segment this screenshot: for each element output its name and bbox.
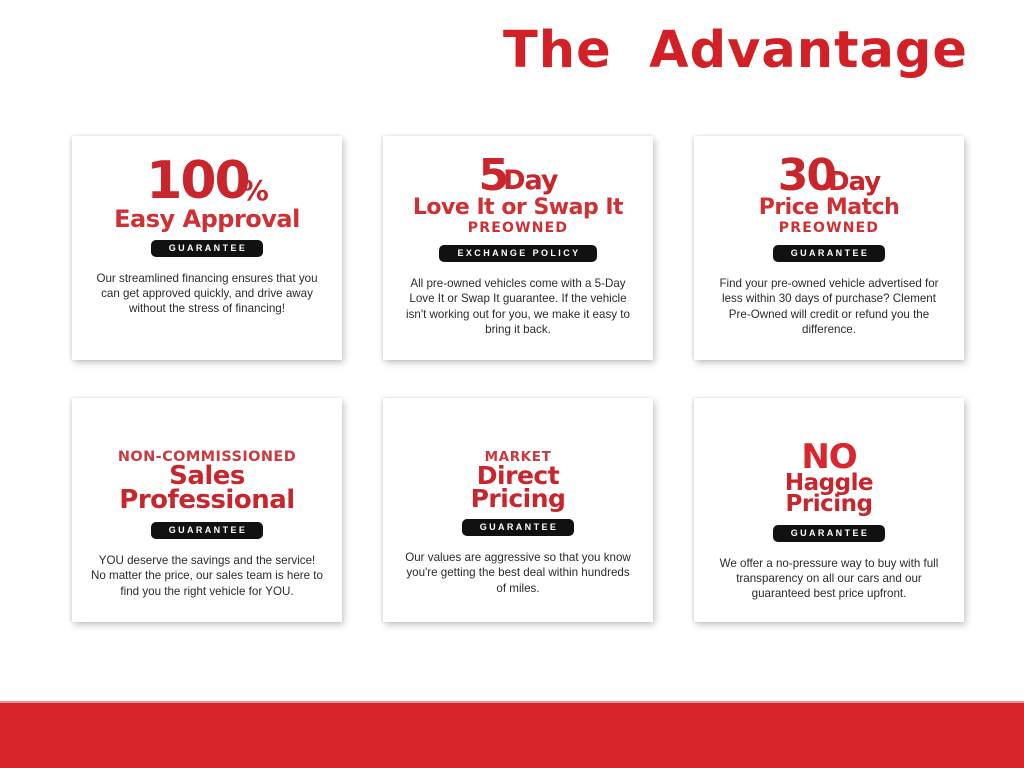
logo-percent-symbol: % <box>241 178 268 204</box>
card-logo-market-direct-pricing: MARKET Direct Pricing <box>471 450 566 510</box>
card-no-haggle-pricing[interactable]: NO Haggle Pricing GUARANTEE We offer a n… <box>694 398 964 622</box>
card-logo-sales-professional: NON-COMMISSIONED Sales Professional <box>118 450 296 513</box>
card-body-no-haggle-pricing: We offer a no-pressure way to buy with f… <box>706 556 952 602</box>
badge-guarantee: GUARANTEE <box>151 522 264 539</box>
logo-number-30: 30 <box>778 156 835 196</box>
logo-word-day: Day <box>503 169 557 194</box>
logo-headline-row: 100 % <box>146 158 268 206</box>
logo-headline-row: 30 Day <box>778 156 881 196</box>
card-logo-no-haggle-pricing: NO Haggle Pricing <box>785 442 873 516</box>
card-body-sales-professional: YOU deserve the savings and the service!… <box>84 553 330 599</box>
badge-guarantee: GUARANTEE <box>773 245 886 262</box>
card-body-love-it-or-swap-it: All pre-owned vehicles come with a 5-Day… <box>395 276 641 337</box>
logo-word-no: NO <box>801 442 856 473</box>
card-logo-easy-approval: 100 % Easy Approval <box>114 158 300 231</box>
logo-subtitle-price-match: Price Match <box>759 197 900 219</box>
card-logo-price-match: 30 Day Price Match PREOWNED <box>759 156 900 236</box>
card-easy-approval[interactable]: 100 % Easy Approval GUARANTEE Our stream… <box>72 136 342 360</box>
page-title: The Advantage <box>503 25 968 76</box>
logo-line-pricing: Pricing <box>471 487 566 510</box>
card-love-it-or-swap-it[interactable]: 5 Day Love It or Swap It PREOWNED EXCHAN… <box>383 136 653 360</box>
logo-word-day: Day <box>828 171 880 195</box>
card-body-easy-approval: Our streamlined financing ensures that y… <box>84 271 330 317</box>
card-body-price-match: Find your pre-owned vehicle advertised f… <box>706 276 952 337</box>
advantage-cards-grid: 100 % Easy Approval GUARANTEE Our stream… <box>72 136 964 622</box>
logo-tag-preowned: PREOWNED <box>468 221 568 236</box>
bottom-brand-bar <box>0 703 1024 768</box>
page-header: The Advantage <box>0 0 1024 100</box>
logo-line-pricing: Pricing <box>786 494 873 515</box>
card-price-match[interactable]: 30 Day Price Match PREOWNED GUARANTEE Fi… <box>694 136 964 360</box>
logo-subtitle-love-it-or-swap-it: Love It or Swap It <box>413 197 623 219</box>
card-market-direct-pricing[interactable]: MARKET Direct Pricing GUARANTEE Our valu… <box>383 398 653 622</box>
logo-headline-row: 5 Day <box>478 156 557 196</box>
card-logo-love-it-or-swap-it: 5 Day Love It or Swap It PREOWNED <box>413 156 623 236</box>
logo-subtitle-easy-approval: Easy Approval <box>114 207 300 231</box>
badge-guarantee: GUARANTEE <box>773 525 886 542</box>
logo-number-100: 100 <box>146 158 249 206</box>
badge-exchange-policy: EXCHANGE POLICY <box>439 245 596 262</box>
logo-tag-preowned: PREOWNED <box>779 221 879 236</box>
badge-guarantee: GUARANTEE <box>151 240 264 257</box>
logo-line-professional: Professional <box>119 489 294 513</box>
badge-guarantee: GUARANTEE <box>462 519 575 536</box>
card-sales-professional[interactable]: NON-COMMISSIONED Sales Professional GUAR… <box>72 398 342 622</box>
card-body-market-direct-pricing: Our values are aggressive so that you kn… <box>395 550 641 596</box>
